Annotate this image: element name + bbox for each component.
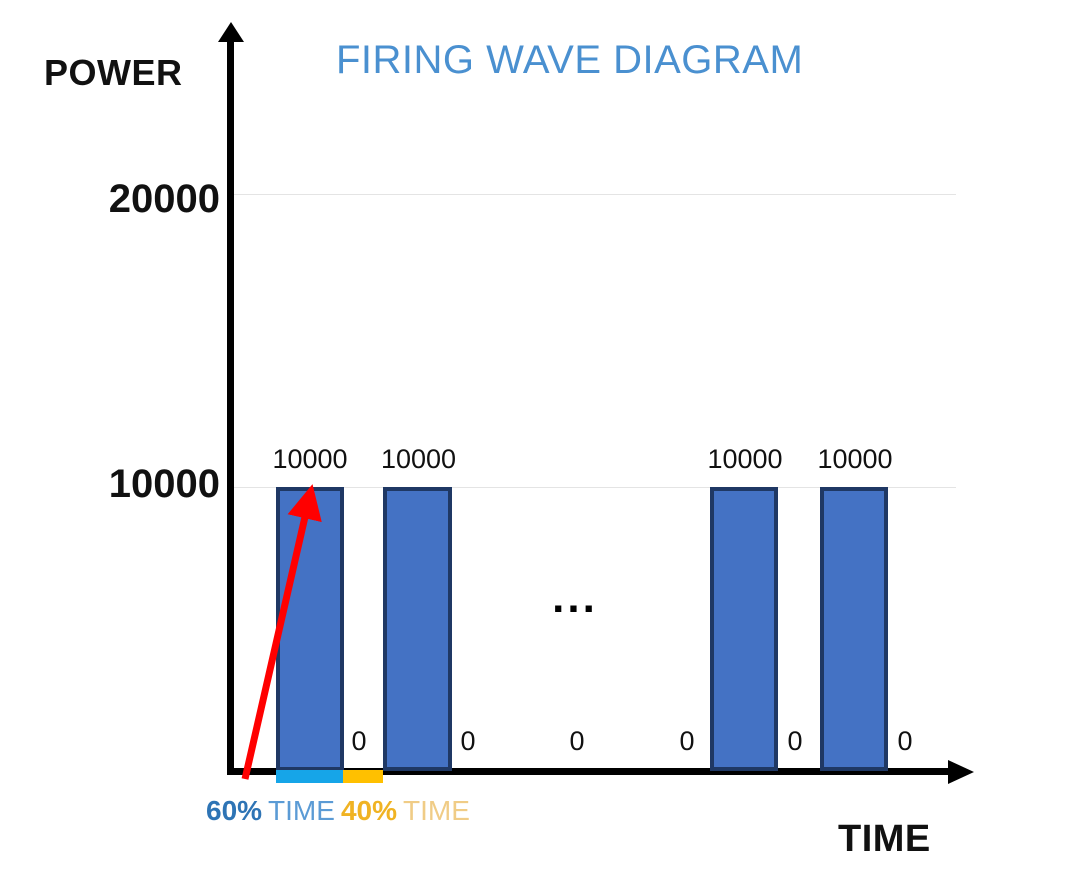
duty-cycle-legend: 60%TIME40%TIME (206, 796, 476, 827)
x-axis-arrow-icon (948, 760, 974, 784)
zero-value-label: 0 (890, 726, 920, 757)
zero-value-label: 0 (344, 726, 374, 757)
bar-value-label: 10000 (798, 444, 912, 475)
duty-on-percent: 60% (206, 795, 262, 826)
zero-value-label: 0 (453, 726, 483, 757)
bar (710, 487, 778, 771)
x-axis-label: TIME (838, 818, 931, 861)
chart-canvas: FIRING WAVE DIAGRAM POWER TIME 20000 100… (0, 0, 1080, 878)
zero-value-label: 0 (780, 726, 810, 757)
duty-on-word: TIME (268, 795, 335, 826)
zero-value-label: 0 (672, 726, 702, 757)
bar (276, 487, 344, 771)
bar-value-label: 10000 (253, 444, 367, 475)
y-axis-label: POWER (44, 52, 183, 94)
bar (820, 487, 888, 771)
continuation-ellipsis: ... (540, 576, 610, 620)
gridline-20000 (234, 194, 956, 195)
y-axis-line (227, 36, 234, 771)
chart-title: FIRING WAVE DIAGRAM (336, 38, 803, 83)
duty-cycle-on-segment (276, 770, 343, 783)
bar (383, 487, 452, 771)
y-axis-arrow-icon (218, 22, 244, 42)
duty-off-word: TIME (403, 795, 470, 826)
y-tick-label-10000: 10000 (60, 462, 220, 507)
duty-off-percent: 40% (341, 795, 397, 826)
bar-value-label: 10000 (361, 444, 476, 475)
zero-value-label: 0 (562, 726, 592, 757)
y-tick-label-20000: 20000 (60, 177, 220, 222)
duty-cycle-off-segment (343, 770, 383, 783)
bar-value-label: 10000 (688, 444, 802, 475)
